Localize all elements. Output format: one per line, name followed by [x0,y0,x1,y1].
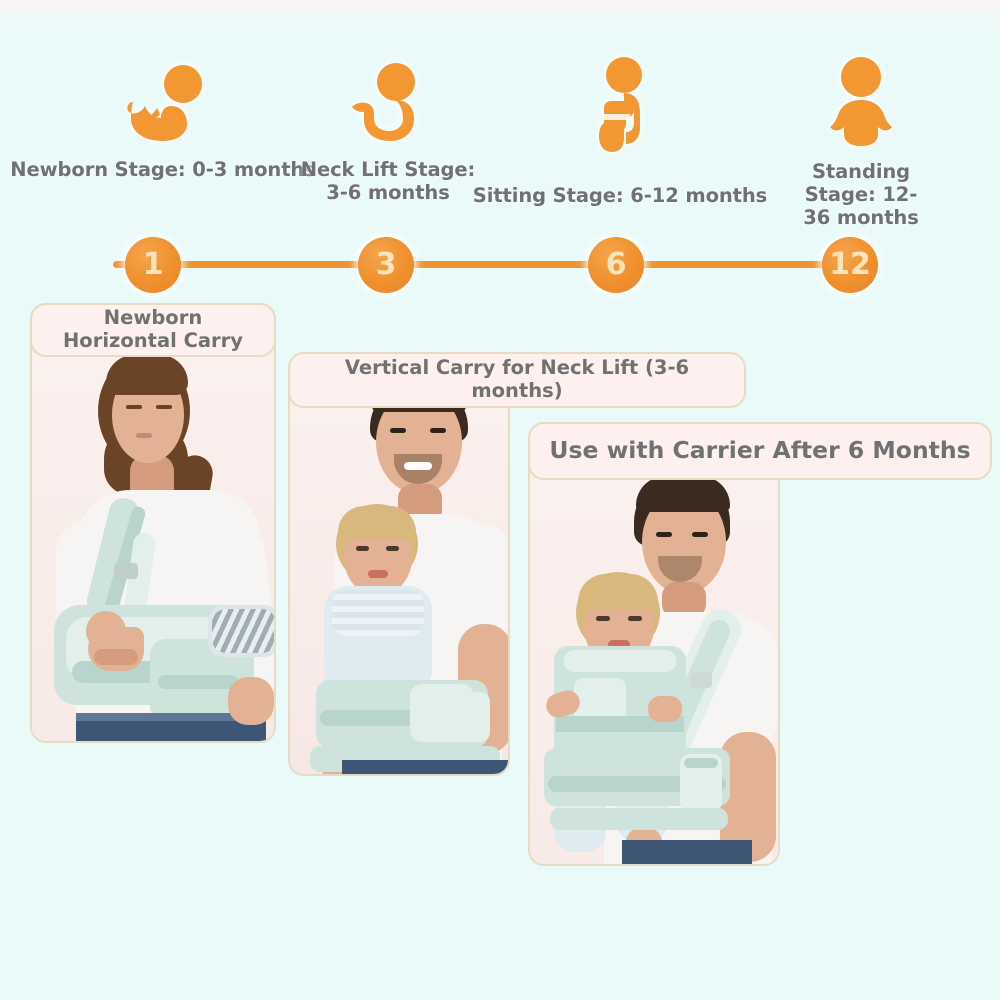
stage-column-neck-lift: Neck Lift Stage: 3-6 months [300,62,476,204]
standing-baby-icon [826,56,896,148]
newborn-lying-icon [117,62,209,144]
father-carrier-photo [530,424,778,864]
age-timeline: 1 3 6 12 [0,228,1000,300]
mother-newborn-photo [32,305,274,741]
timeline-node-3[interactable]: 3 [358,237,414,293]
stage-column-standing: Standing Stage: 12-36 months [802,56,920,229]
stage-label-neck-lift: Neck Lift Stage: 3-6 months [300,158,476,204]
father-baby-vertical-photo [290,354,508,774]
carry-card-neck-lift-title: Vertical Carry for Neck Lift (3-6 months… [288,352,746,408]
stage-label-newborn: Newborn Stage: 0-3 months [0,158,328,181]
carry-card-newborn-title: Newborn Horizontal Carry [30,303,276,357]
timeline-node-6[interactable]: 6 [588,237,644,293]
sitting-baby-icon [588,56,652,156]
timeline-track [113,261,865,268]
carry-card-carrier[interactable] [528,422,780,866]
carry-card-carrier-title: Use with Carrier After 6 Months [528,422,992,480]
carry-card-newborn[interactable] [30,303,276,743]
infographic-canvas: Newborn Stage: 0-3 months Neck Lift Stag… [0,0,1000,1000]
timeline-node-12[interactable]: 12 [822,237,878,293]
stage-label-sitting: Sitting Stage: 6-12 months [470,184,770,207]
carry-card-neck-lift[interactable] [288,352,510,776]
stage-column-newborn: Newborn Stage: 0-3 months [0,62,328,181]
neck-lift-baby-icon [346,62,430,144]
timeline-node-1[interactable]: 1 [125,237,181,293]
stage-column-sitting: Sitting Stage: 6-12 months [470,56,770,207]
stage-label-standing: Standing Stage: 12-36 months [802,160,920,229]
